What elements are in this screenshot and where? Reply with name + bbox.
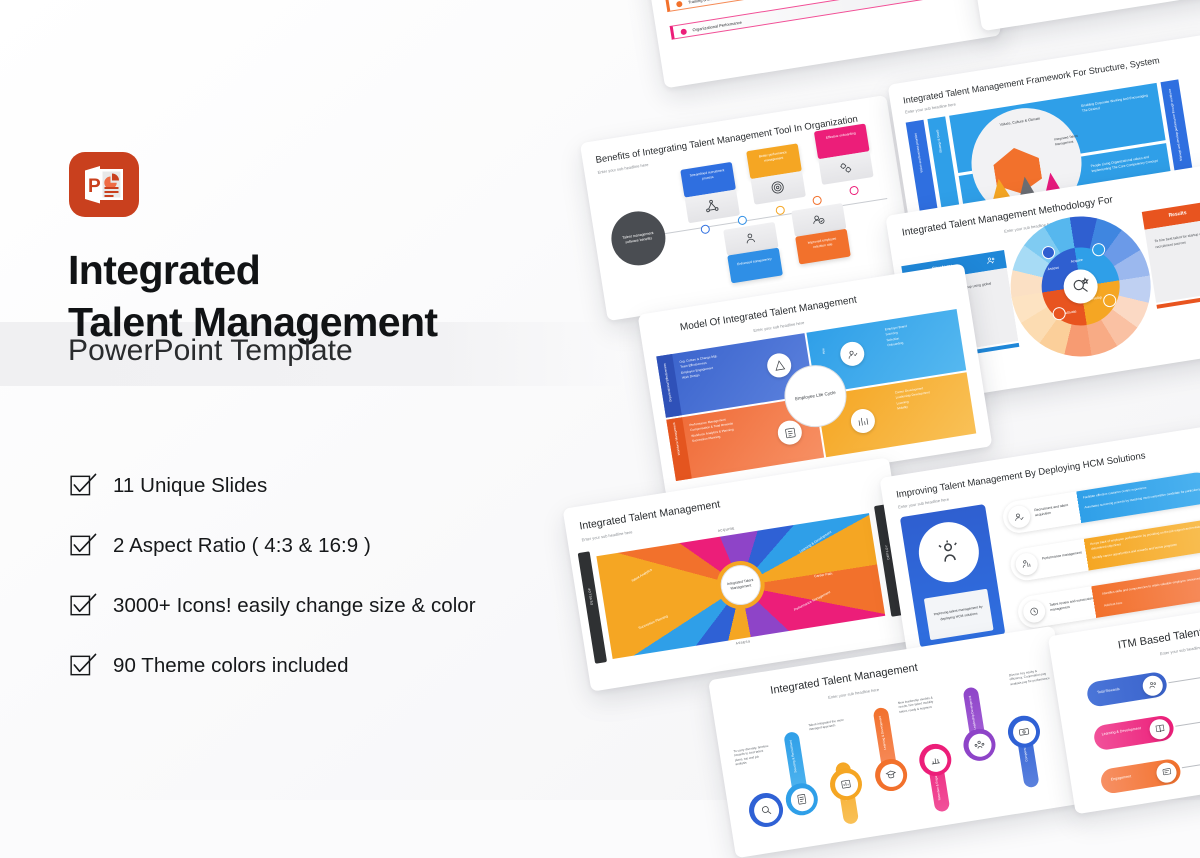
hub-label: Talent management software benefits xyxy=(618,230,659,247)
edge-label: ACQUIRE xyxy=(718,526,735,533)
feature-item: 11 Unique Slides xyxy=(70,472,590,499)
row-label: Learning & Development xyxy=(1101,725,1145,737)
poster-root: Organizational Strategy Tracking Recruit… xyxy=(0,0,1200,800)
step-note: To carry diversity, timeline towards to … xyxy=(733,744,771,767)
retention-icon xyxy=(810,211,827,228)
feature-item: 2 Aspect Ratio ( 4:3 & 16:9 ) xyxy=(70,532,590,559)
rewards-icon xyxy=(1146,679,1159,692)
benefit-label: Better performance management xyxy=(752,149,795,165)
benefit-label: Improved employee retention rate xyxy=(801,235,844,251)
team-icon xyxy=(742,230,759,247)
framework-bullet: People Living Organizational values and … xyxy=(1090,153,1161,174)
svg-text:P: P xyxy=(88,176,101,197)
slide-numbered-steps[interactable]: Attract Talent 01 Select Talent 02 Welco… xyxy=(957,0,1200,31)
itm-row[interactable]: Engagement xyxy=(1099,758,1182,795)
hire-icon xyxy=(845,346,860,361)
benefit-label: Enhanced transparency xyxy=(733,256,775,267)
feature-label: 90 Theme colors included xyxy=(113,654,349,678)
hero-panel: P Integrated Talent Management PowerPoin… xyxy=(0,0,600,800)
checkbox-checked-icon xyxy=(70,532,97,559)
powerpoint-icon: P xyxy=(69,152,139,217)
step-note: Diverse key equity & efficiency, Coopera… xyxy=(1009,667,1051,687)
step-label: Sourcing & Recruitment xyxy=(788,740,798,773)
row-label: Organizational Performance xyxy=(692,20,742,33)
quadrant-side-label: Hire xyxy=(821,348,826,354)
slide-collage: Organizational Strategy Tracking Recruit… xyxy=(520,0,1200,840)
checkbox-checked-icon xyxy=(70,592,97,619)
row-label: Training & Development xyxy=(688,0,731,5)
slide-subtitle: Enter your sub headline here xyxy=(753,320,805,333)
slide-subtitle: Enter your sub headline here xyxy=(1159,643,1200,656)
search-chart-icon xyxy=(759,803,774,818)
row-label: Engagement xyxy=(1111,774,1132,781)
gears-icon xyxy=(837,159,854,176)
edge-label: ASSESS xyxy=(735,639,750,645)
step-label: Learning & Development xyxy=(878,716,888,750)
panel-header: Results xyxy=(1168,210,1187,219)
step-label: Leadership Development xyxy=(968,695,978,730)
title-line-1: Integrated xyxy=(68,247,260,293)
talent-search-icon xyxy=(1069,275,1092,298)
recruitment-icon xyxy=(1012,510,1026,524)
feature-label: 3000+ Icons! easily change size & color xyxy=(113,594,476,618)
book-icon xyxy=(1153,722,1166,735)
row-label: Talent review and succession management xyxy=(1049,596,1096,613)
panel-bullet: To hire best talent for startup using gl… xyxy=(1154,228,1200,251)
quadrant-side-label: Organizational Effectiveness xyxy=(662,363,673,402)
report-icon xyxy=(839,777,853,791)
feature-list: 11 Unique Slides 2 Aspect Ratio ( 4:3 & … xyxy=(70,472,590,712)
performance-icon xyxy=(1020,557,1034,571)
payroll-icon xyxy=(1017,725,1031,739)
checkbox-checked-icon xyxy=(70,652,97,679)
row-label: Total Rewards xyxy=(1097,687,1120,695)
side-label: Strategy & Goals xyxy=(935,129,943,153)
page-subtitle: PowerPoint Template xyxy=(68,334,353,368)
leadership-icon xyxy=(973,738,987,752)
develop-icon xyxy=(855,414,870,429)
feature-item: 3000+ Icons! easily change size & color xyxy=(70,592,590,619)
edge-label: DEPLOY xyxy=(884,545,890,560)
checkbox-checked-icon xyxy=(70,472,97,499)
quadrant-side-label: Workforce Management xyxy=(672,422,682,455)
itm-row[interactable]: Total Rewards xyxy=(1086,671,1169,708)
target-icon xyxy=(769,179,786,196)
slide-subtitle: Enter your sub headline here xyxy=(828,687,880,700)
training-icon xyxy=(884,768,898,782)
framework-bullet: Enabling Corporate Working And Encouragi… xyxy=(1081,93,1152,114)
growth-icon xyxy=(928,753,942,767)
benefit-label: Effective onboarding xyxy=(820,130,862,141)
center-label: Employee Life Cycle xyxy=(793,389,838,403)
manage-icon xyxy=(782,425,797,440)
side-label: Manage and develop performance through w… xyxy=(1168,88,1184,161)
step-note: New leadership models & needs, hire tale… xyxy=(898,695,938,714)
itm-row[interactable]: Learning & Development xyxy=(1092,714,1175,751)
row-label: Recruitment and talent acquisition xyxy=(1034,502,1077,519)
feature-item: 90 Theme colors included xyxy=(70,652,590,679)
row-label: Performance management xyxy=(1042,550,1084,562)
side-label: Vision and business priorities xyxy=(913,133,924,173)
benefit-label: Streamlined recruitment process xyxy=(686,168,729,184)
succession-icon xyxy=(1027,605,1041,619)
feature-label: 11 Unique Slides xyxy=(113,474,267,498)
center-label: Integrated Talent Management xyxy=(725,577,756,592)
left-label: Improving talent management by deploying… xyxy=(932,605,985,625)
step-note: Talent integrated the more managed appro… xyxy=(808,718,845,732)
network-icon xyxy=(703,197,720,214)
people-icon xyxy=(985,254,998,267)
structure-icon xyxy=(772,358,787,373)
engagement-icon xyxy=(1160,766,1173,779)
feature-label: 2 Aspect Ratio ( 4:3 & 16:9 ) xyxy=(113,534,371,558)
idea-person-icon xyxy=(932,535,966,569)
resume-icon xyxy=(795,792,809,806)
